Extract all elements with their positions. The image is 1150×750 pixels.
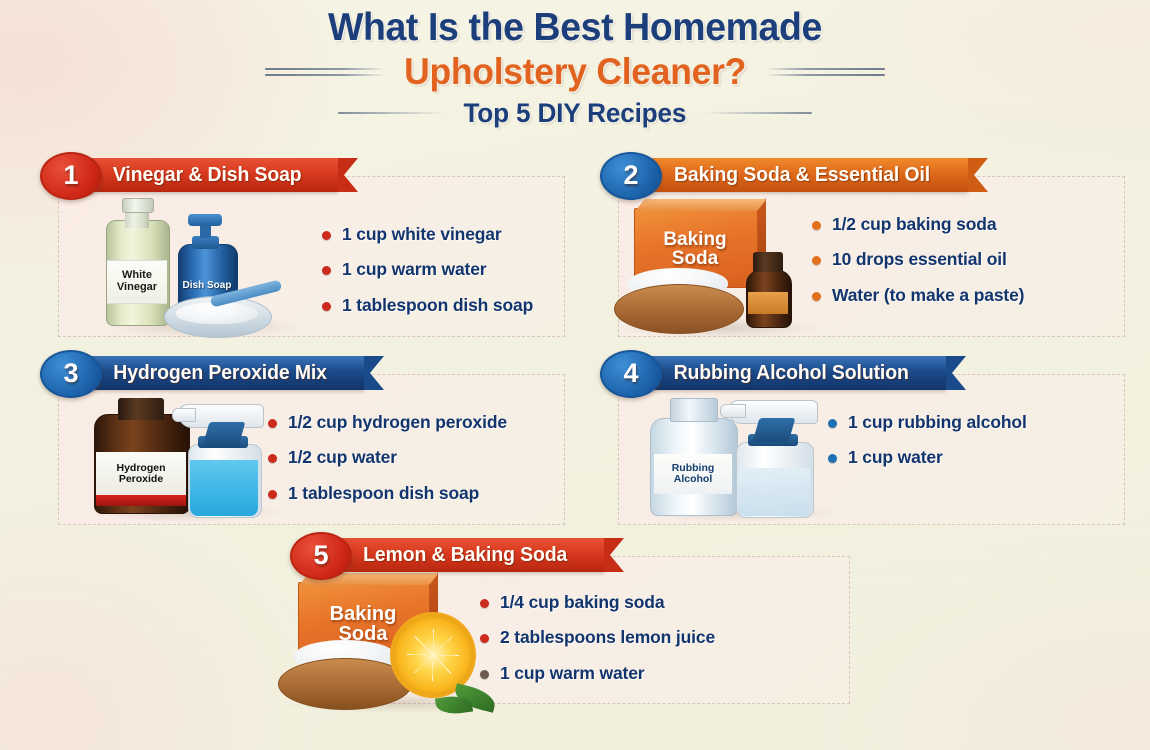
ingredient-text: 1/2 cup baking soda — [832, 214, 996, 235]
bullet-icon — [322, 302, 331, 311]
subtitle-rule-right — [704, 112, 812, 114]
banner-notch-icon — [968, 158, 988, 192]
list-item: 10 drops essential oil — [812, 249, 1024, 270]
recipe-card-4[interactable]: RubbingAlcohol 1 cup rubbing alcohol 1 c… — [600, 350, 1125, 525]
recipe-card-3[interactable]: HydrogenPeroxide 1/2 cup hydrogen peroxi… — [40, 350, 565, 525]
list-item: 1 cup white vinegar — [322, 224, 533, 245]
vinegar-bottle-label: WhiteVinegar — [117, 270, 157, 293]
bullet-icon — [268, 490, 277, 499]
card-5-title: Lemon & Baking Soda — [363, 544, 567, 567]
card-3-artwork: HydrogenPeroxide — [88, 394, 298, 518]
card-1-banner-body: Vinegar & Dish Soap — [68, 158, 338, 192]
list-item: 1 cup rubbing alcohol — [828, 412, 1027, 433]
card-3-number-badge: 3 — [40, 350, 102, 398]
title-rule-left — [265, 68, 385, 76]
card-1-number: 1 — [63, 160, 78, 191]
card-1-artwork: WhiteVinegar Dish Soap — [102, 206, 312, 334]
bullet-icon — [480, 634, 489, 643]
card-4-ingredient-list: 1 cup rubbing alcohol 1 cup water — [828, 412, 1027, 483]
card-4-banner: Rubbing Alcohol Solution — [628, 356, 946, 390]
ingredient-text: 2 tablespoons lemon juice — [500, 627, 715, 648]
card-1-ingredient-list: 1 cup white vinegar 1 cup warm water 1 t… — [322, 224, 533, 330]
hydrogen-peroxide-label: HydrogenPeroxide — [116, 463, 165, 484]
list-item: Water (to make a paste) — [812, 285, 1024, 306]
bullet-icon — [812, 256, 821, 265]
list-item: 1 cup warm water — [480, 663, 715, 684]
bullet-icon — [480, 670, 489, 679]
ingredient-text: 1 tablespoon dish soap — [342, 295, 533, 316]
page-subtitle-row: Top 5 DIY Recipes — [0, 98, 1150, 129]
card-1-title: Vinegar & Dish Soap — [113, 164, 302, 187]
list-item: 1 cup warm water — [322, 259, 533, 280]
card-2-ingredient-list: 1/2 cup baking soda 10 drops essential o… — [812, 214, 1024, 320]
wooden-bowl-with-powder-icon — [614, 284, 742, 332]
ingredient-text: Water (to make a paste) — [832, 285, 1024, 306]
card-2-number-badge: 2 — [600, 152, 662, 200]
ingredient-text: 1 cup white vinegar — [342, 224, 502, 245]
bullet-icon — [812, 292, 821, 301]
subtitle-rule-left — [338, 112, 446, 114]
card-3-banner-body: Hydrogen Peroxide Mix — [68, 356, 364, 390]
banner-notch-icon — [338, 158, 358, 192]
card-3-number: 3 — [63, 358, 78, 389]
card-3-banner: Hydrogen Peroxide Mix — [68, 356, 364, 390]
bullet-icon — [480, 599, 489, 608]
card-5-ingredient-list: 1/4 cup baking soda 2 tablespoons lemon … — [480, 592, 715, 698]
card-2-banner-body: Baking Soda & Essential Oil — [628, 158, 968, 192]
ingredient-text: 1 cup water — [848, 447, 943, 468]
ingredient-text: 1 cup warm water — [500, 663, 644, 684]
card-1-number-badge: 1 — [40, 152, 102, 200]
bullet-icon — [828, 454, 837, 463]
bullet-icon — [268, 454, 277, 463]
page-title-line2: Upholstery Cleaner? — [404, 51, 746, 93]
bullet-icon — [268, 419, 277, 428]
page-subtitle: Top 5 DIY Recipes — [464, 98, 687, 129]
bowl-with-liquid-icon — [164, 296, 270, 336]
white-vinegar-bottle-icon: WhiteVinegar — [106, 198, 168, 326]
card-3-title: Hydrogen Peroxide Mix — [113, 362, 327, 385]
ingredient-text: 1/4 cup baking soda — [500, 592, 664, 613]
card-2-banner: Baking Soda & Essential Oil — [628, 158, 968, 192]
card-5-number: 5 — [313, 540, 328, 571]
banner-notch-icon — [364, 356, 384, 390]
list-item: 1 tablespoon dish soap — [322, 295, 533, 316]
clear-spray-bottle-icon — [720, 396, 824, 518]
bullet-icon — [828, 419, 837, 428]
ingredient-text: 1 cup warm water — [342, 259, 486, 280]
card-5-banner-body: Lemon & Baking Soda — [318, 538, 604, 572]
ingredient-text: 10 drops essential oil — [832, 249, 1007, 270]
infographic-header: What Is the Best Homemade Upholstery Cle… — [0, 8, 1150, 129]
title-rule-right — [765, 68, 885, 76]
list-item: 1/2 cup water — [268, 447, 507, 468]
card-3-ingredient-list: 1/2 cup hydrogen peroxide 1/2 cup water … — [268, 412, 507, 518]
card-4-artwork: RubbingAlcohol — [644, 392, 854, 518]
list-item: 2 tablespoons lemon juice — [480, 627, 715, 648]
page-title-line2-row: Upholstery Cleaner? — [0, 51, 1150, 93]
list-item: 1/2 cup hydrogen peroxide — [268, 412, 507, 433]
bullet-icon — [322, 266, 331, 275]
banner-notch-icon — [604, 538, 624, 572]
bullet-icon — [812, 221, 821, 230]
blue-spray-bottle-icon — [172, 398, 270, 518]
dish-soap-label: Dish Soap — [183, 280, 232, 291]
card-2-title: Baking Soda & Essential Oil — [674, 164, 930, 187]
rubbing-alcohol-label: RubbingAlcohol — [672, 463, 715, 484]
recipe-card-2[interactable]: BakingSoda 1/2 cup baking soda 10 drops … — [600, 152, 1125, 337]
list-item: 1 tablespoon dish soap — [268, 483, 507, 504]
baking-soda-box-label: BakingSoda — [634, 230, 756, 268]
card-4-title: Rubbing Alcohol Solution — [674, 362, 909, 385]
card-1-banner: Vinegar & Dish Soap — [68, 158, 338, 192]
card-4-number-badge: 4 — [600, 350, 662, 398]
banner-notch-icon — [946, 356, 966, 390]
list-item: 1/2 cup baking soda — [812, 214, 1024, 235]
ingredient-text: 1 tablespoon dish soap — [288, 483, 479, 504]
amber-essential-oil-bottle-icon — [744, 252, 792, 328]
card-5-banner: Lemon & Baking Soda — [318, 538, 604, 572]
list-item: 1 cup water — [828, 447, 1027, 468]
recipe-card-1[interactable]: WhiteVinegar Dish Soap 1 cup white vineg… — [40, 152, 565, 337]
card-2-artwork: BakingSoda — [614, 200, 844, 336]
ingredient-text: 1 cup rubbing alcohol — [848, 412, 1027, 433]
card-4-banner-body: Rubbing Alcohol Solution — [628, 356, 946, 390]
wooden-bowl-with-powder-icon — [278, 658, 410, 708]
card-2-number: 2 — [623, 160, 638, 191]
list-item: 1/4 cup baking soda — [480, 592, 715, 613]
ingredient-text: 1/2 cup water — [288, 447, 397, 468]
card-4-number: 4 — [623, 358, 638, 389]
recipe-card-5[interactable]: BakingSoda 1/4 cup baking soda 2 tablesp… — [290, 532, 850, 704]
bullet-icon — [322, 231, 331, 240]
card-5-number-badge: 5 — [290, 532, 352, 580]
ingredient-text: 1/2 cup hydrogen peroxide — [288, 412, 507, 433]
page-title-line1: What Is the Best Homemade — [23, 8, 1127, 49]
